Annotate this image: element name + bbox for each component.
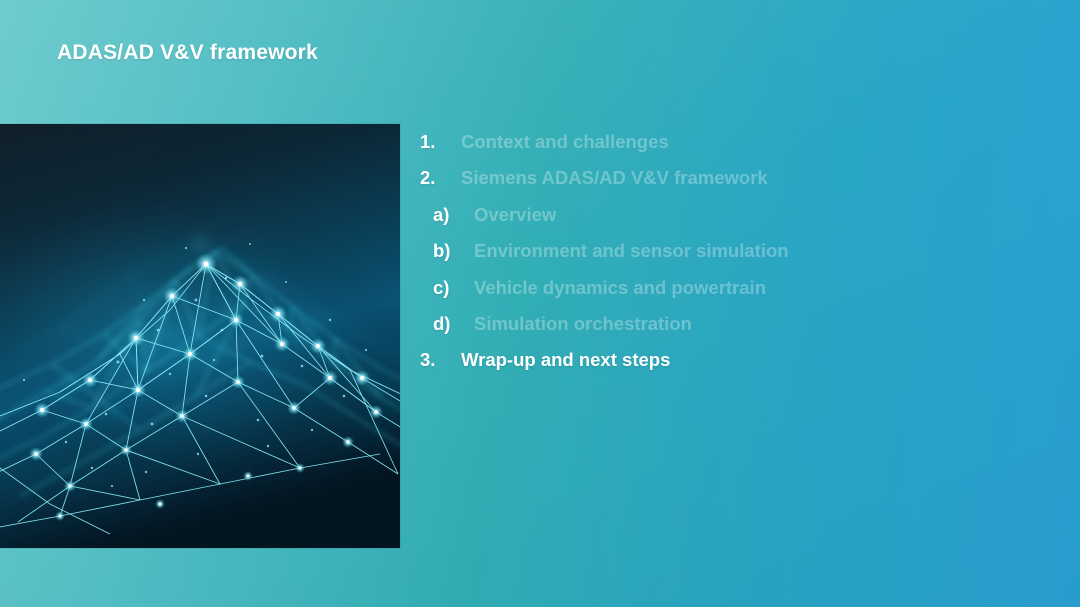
agenda-item-marker: 3.: [420, 349, 461, 371]
presentation-slide: ADAS/AD V&V framework: [0, 0, 1080, 607]
agenda-item-marker: 1.: [420, 131, 461, 153]
agenda-item-marker: 2.: [420, 167, 461, 189]
agenda-subitem-marker: b): [433, 240, 474, 262]
agenda-item-label: Wrap-up and next steps: [461, 349, 670, 371]
agenda-subitem-label: Overview: [474, 204, 556, 226]
agenda-item-context-and-challenges[interactable]: 1. Context and challenges: [420, 131, 980, 167]
agenda-subitem-marker: c): [433, 277, 474, 299]
agenda-item-label: Context and challenges: [461, 131, 669, 153]
agenda-list: 1. Context and challenges 2. Siemens ADA…: [420, 131, 980, 386]
agenda-subitem-environment-and-sensor-simulation[interactable]: b) Environment and sensor simulation: [420, 240, 980, 276]
abstract-network-mesh-image: [0, 124, 400, 548]
agenda-subitem-label: Vehicle dynamics and powertrain: [474, 277, 766, 299]
agenda-subitem-overview[interactable]: a) Overview: [420, 204, 980, 240]
agenda-subitem-simulation-orchestration[interactable]: d) Simulation orchestration: [420, 313, 980, 349]
agenda-subitem-label: Environment and sensor simulation: [474, 240, 789, 262]
agenda-subitem-marker: d): [433, 313, 474, 335]
agenda-item-siemens-adas-ad-vv-framework[interactable]: 2. Siemens ADAS/AD V&V framework: [420, 167, 980, 203]
agenda-subitem-label: Simulation orchestration: [474, 313, 692, 335]
agenda-item-wrap-up-and-next-steps[interactable]: 3. Wrap-up and next steps: [420, 349, 980, 385]
page-title: ADAS/AD V&V framework: [57, 41, 318, 65]
agenda-subitem-vehicle-dynamics-and-powertrain[interactable]: c) Vehicle dynamics and powertrain: [420, 277, 980, 313]
agenda-subitem-marker: a): [433, 204, 474, 226]
agenda-item-label: Siemens ADAS/AD V&V framework: [461, 167, 768, 189]
